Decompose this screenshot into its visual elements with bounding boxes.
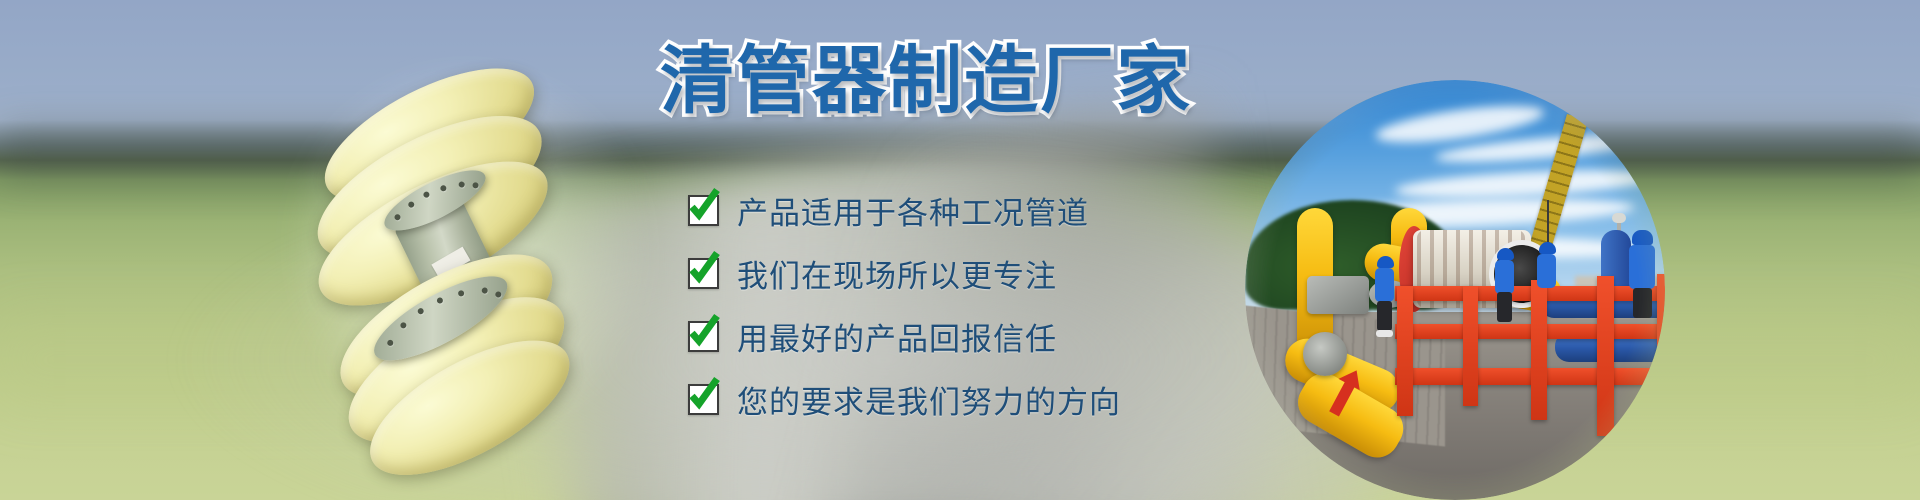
pipeline-site-circular-photo xyxy=(1245,80,1665,500)
checkbox-checked-icon xyxy=(688,321,719,352)
photo-frame-rail-bottom xyxy=(1395,368,1665,385)
photo-valve-body xyxy=(1307,276,1369,314)
photo-frame-post xyxy=(1397,286,1413,416)
photo-frame-post xyxy=(1597,276,1614,436)
photo-frame-post xyxy=(1463,286,1478,406)
list-item-label: 您的要求是我们努力的方向 xyxy=(737,377,1121,422)
promo-banner: 清管器制造厂家 产品适用于各种工况管道 我们在现场所以更专注 xyxy=(0,0,1920,500)
list-item-label: 产品适用于各种工况管道 xyxy=(737,188,1089,233)
list-item: 用最好的产品回报信任 xyxy=(688,314,1121,359)
selling-point-list: 产品适用于各种工况管道 我们在现场所以更专注 用最好的产品回报信任 xyxy=(688,188,1121,422)
checkbox-checked-icon xyxy=(688,195,719,226)
checkbox-checked-icon xyxy=(688,258,719,289)
photo-frame-post xyxy=(1531,280,1547,420)
photo-frame-rail-mid xyxy=(1395,324,1665,339)
photo-frame-post xyxy=(1657,274,1665,444)
list-item: 产品适用于各种工况管道 xyxy=(688,188,1121,233)
checkbox-checked-icon xyxy=(688,384,719,415)
photo-cloud xyxy=(1395,165,1656,203)
photo-pipe-flange xyxy=(1303,332,1347,376)
banner-headline: 清管器制造厂家 xyxy=(660,42,1192,120)
list-item-label: 我们在现场所以更专注 xyxy=(737,251,1057,296)
photo-frame-rail-top xyxy=(1395,286,1665,301)
list-item: 我们在现场所以更专注 xyxy=(688,251,1121,296)
list-item-label: 用最好的产品回报信任 xyxy=(737,314,1057,359)
list-item: 您的要求是我们努力的方向 xyxy=(688,377,1121,422)
